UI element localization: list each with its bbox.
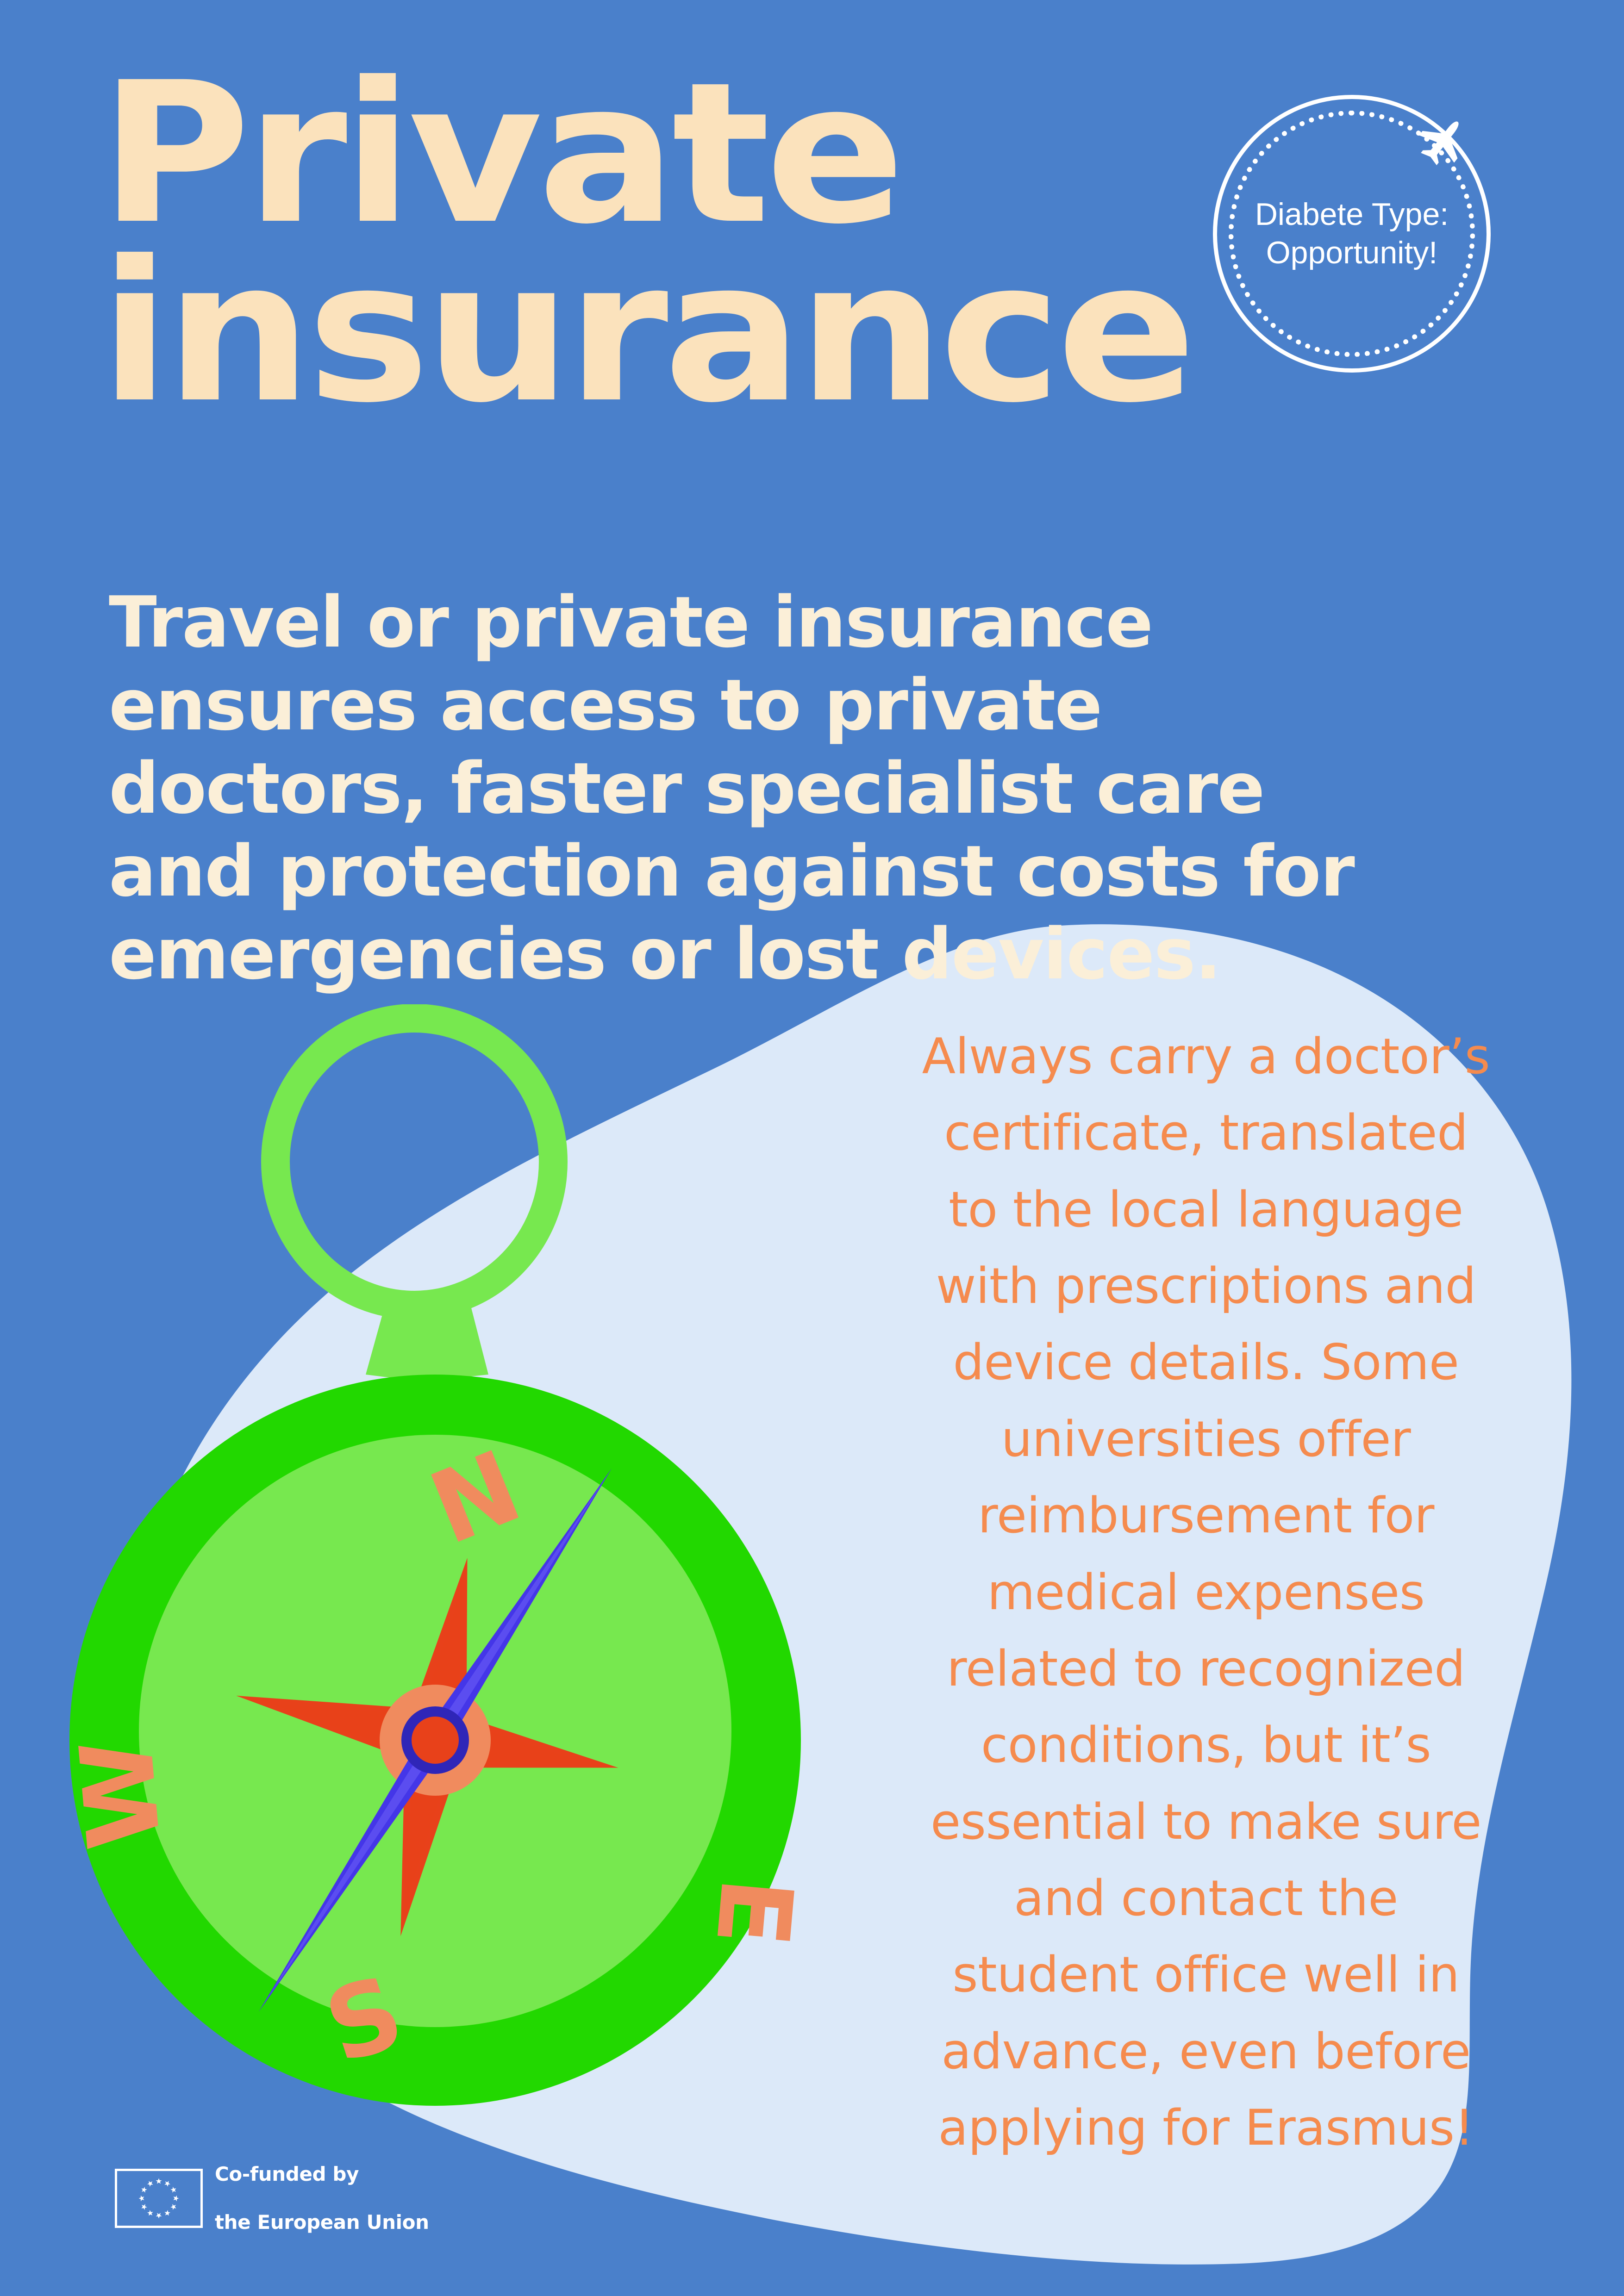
compass-illustration: N E S W: [69, 1004, 903, 2115]
body-paragraph: Always carry a doctor’s certificate, tra…: [921, 1018, 1491, 2166]
title-line-2: insurance: [100, 243, 1366, 422]
eu-funding-text: Co-funded by the European Union: [215, 2138, 429, 2259]
poster-title: Private insurance: [100, 65, 1294, 423]
poster-canvas: Private insurance Travel or private insu…: [0, 0, 1624, 2296]
eu-funding-line-1: Co-funded by: [215, 2162, 429, 2186]
compass-loop: [275, 1018, 553, 1305]
poster-subtitle: Travel or private insurance ensures acce…: [109, 581, 1359, 996]
title-line-1: Private: [100, 65, 1366, 243]
airplane-icon: [1416, 112, 1471, 168]
badge-line-2: Opportunity!: [1231, 234, 1472, 272]
badge-text: Diabete Type: Opportunity!: [1213, 195, 1491, 272]
compass-label-west: W: [69, 1734, 183, 1854]
eu-funding-line-2: the European Union: [215, 2210, 429, 2234]
eu-funding-logo: Co-funded by the European Union: [115, 2138, 429, 2259]
compass-pivot: [406, 1711, 464, 1769]
compass-label-east: E: [693, 1873, 815, 1951]
badge-line-1: Diabete Type:: [1231, 195, 1472, 234]
diabete-type-badge: Diabete Type: Opportunity!: [1213, 95, 1491, 373]
eu-flag-icon: [115, 2169, 203, 2228]
